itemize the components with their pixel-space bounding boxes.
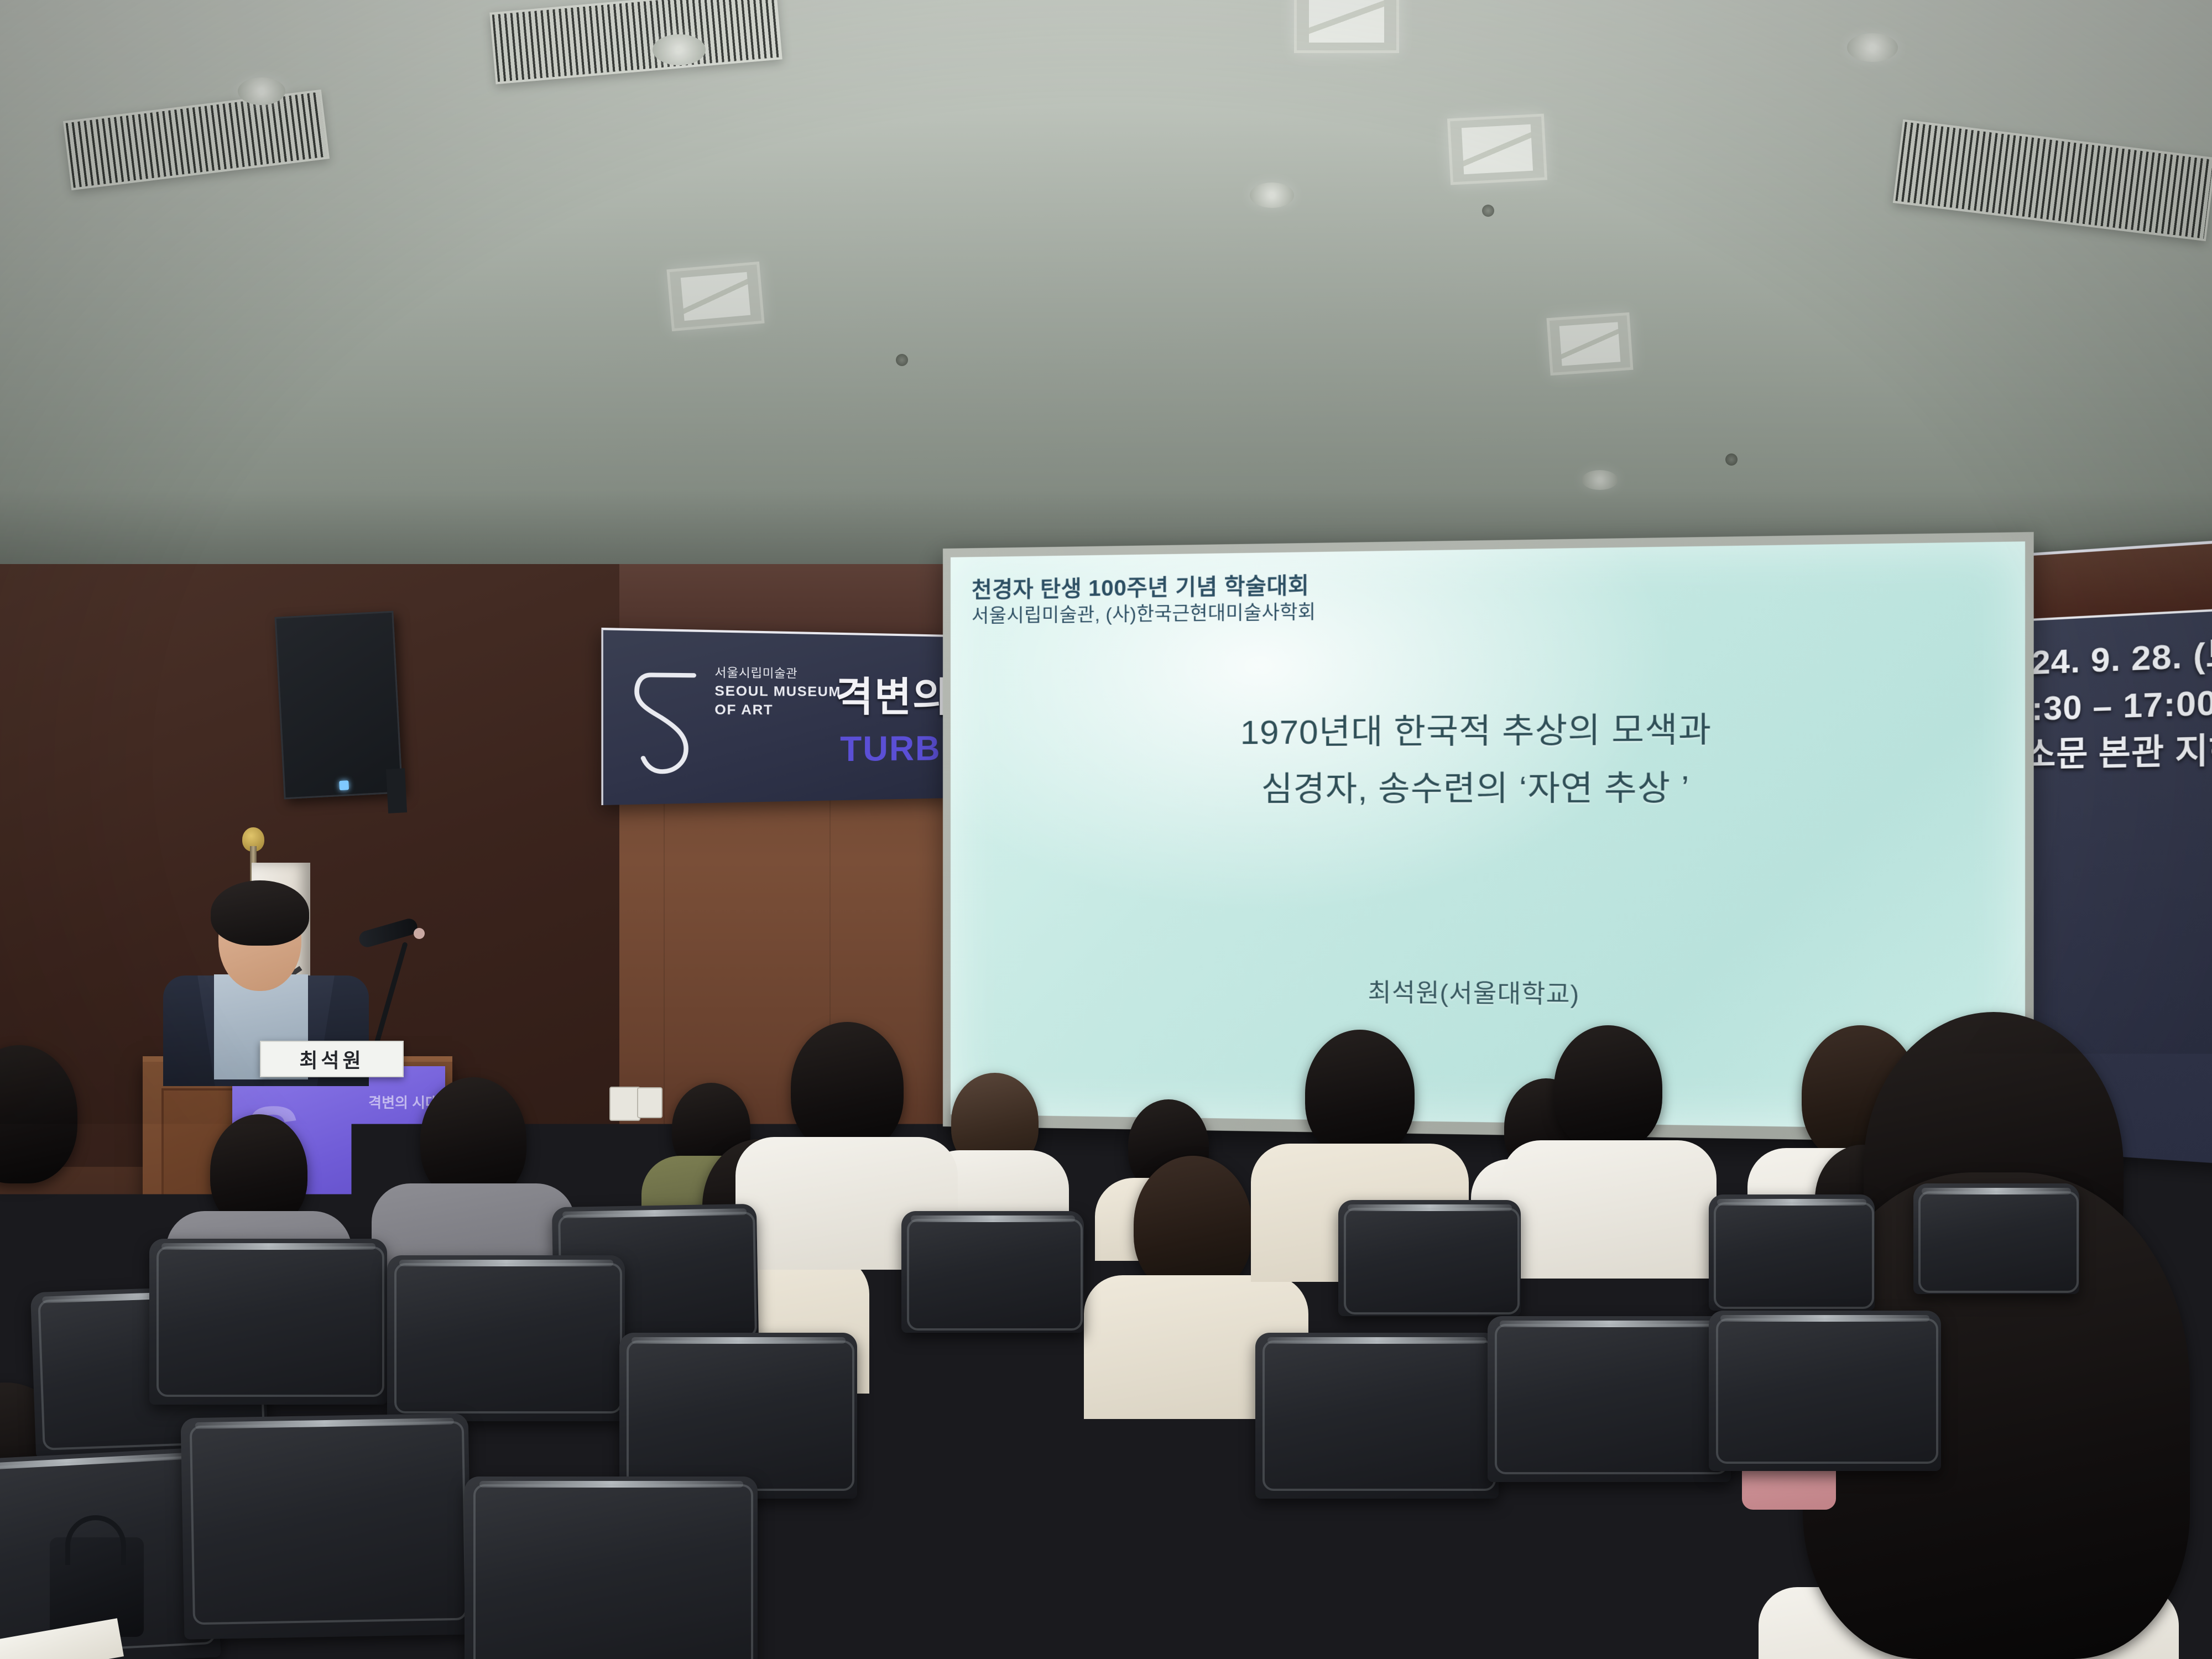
slide-presenter: 최석원(서울대학교) [951, 969, 2025, 1014]
slide-title-line1: 1970년대 한국적 추상의 모색과 [951, 700, 2025, 763]
speaker-name-text: 최석원 [299, 1045, 364, 1073]
auditorium-chair [769, 1493, 1067, 1659]
slide-header-line2: 서울시립미술관, (사)한국근현대미술사학회 [972, 601, 1316, 628]
event-banner-left: 서울시립미술관 SEOUL MUSEUM OF ART 격변의 시 TURBUL… [601, 628, 953, 805]
sema-name-korean: 서울시립미술관 [714, 666, 841, 682]
banner-title-korean: 격변의 시 [836, 663, 953, 723]
auditorium-chair [149, 1239, 387, 1405]
auditorium-chair [1709, 1311, 1941, 1471]
audience-shoulders [1502, 1140, 1717, 1279]
audience-head [1134, 1156, 1252, 1294]
presenter-hair [211, 880, 309, 946]
slide-title-line2: 심경자, 송수련의 ‘자연 추상 ’ [951, 758, 2025, 818]
sema-name-english-1: SEOUL MUSEUM [714, 683, 841, 700]
auditorium-chair [1255, 1333, 1499, 1499]
ceiling-shading [0, 0, 2212, 597]
ceiling [0, 0, 2212, 597]
auditorium-chair [1709, 1194, 1875, 1311]
auditorium-chair [465, 1477, 758, 1659]
conference-hall-photo: 소화기 서울시립미술관 SEOUL MUSEUM OF ART 격변의 시 TU… [0, 0, 2212, 1659]
speaker-power-led [339, 780, 349, 790]
auditorium-chair [1338, 1200, 1521, 1316]
auditorium-chair [1488, 1316, 1731, 1482]
slide-header-line1: 천경자 탄생 100주년 기념 학술대회 [972, 572, 1316, 604]
speaker-mount-bracket [386, 768, 407, 813]
sema-name-english-2: OF ART [714, 702, 841, 719]
audience-head [1554, 1025, 1662, 1150]
sema-s-logo-icon [630, 664, 709, 794]
sema-logo-text: 서울시립미술관 SEOUL MUSEUM OF ART [714, 666, 841, 719]
audience-head [420, 1077, 526, 1201]
speaker-nameplate: 최석원 [260, 1041, 404, 1077]
audience-seating [0, 1073, 2212, 1659]
auditorium-chair [1338, 1510, 1637, 1659]
banner-title-english: TURBULE [840, 729, 953, 770]
auditorium-chair [1620, 1482, 1908, 1659]
wall-mounted-speaker [275, 611, 403, 800]
slide-header: 천경자 탄생 100주년 기념 학술대회 서울시립미술관, (사)한국근현대미술… [972, 572, 1316, 628]
auditorium-chair [619, 1333, 857, 1499]
audience-head [791, 1022, 904, 1152]
slide-title: 1970년대 한국적 추상의 모색과 심경자, 송수련의 ‘자연 추상 ’ [951, 700, 2025, 818]
auditorium-chair [1051, 1515, 1349, 1659]
auditorium-chair [387, 1255, 625, 1421]
auditorium-chair [901, 1211, 1084, 1333]
auditorium-chair [181, 1413, 472, 1639]
auditorium-chair [1913, 1183, 2079, 1294]
audience-head [1305, 1030, 1415, 1157]
